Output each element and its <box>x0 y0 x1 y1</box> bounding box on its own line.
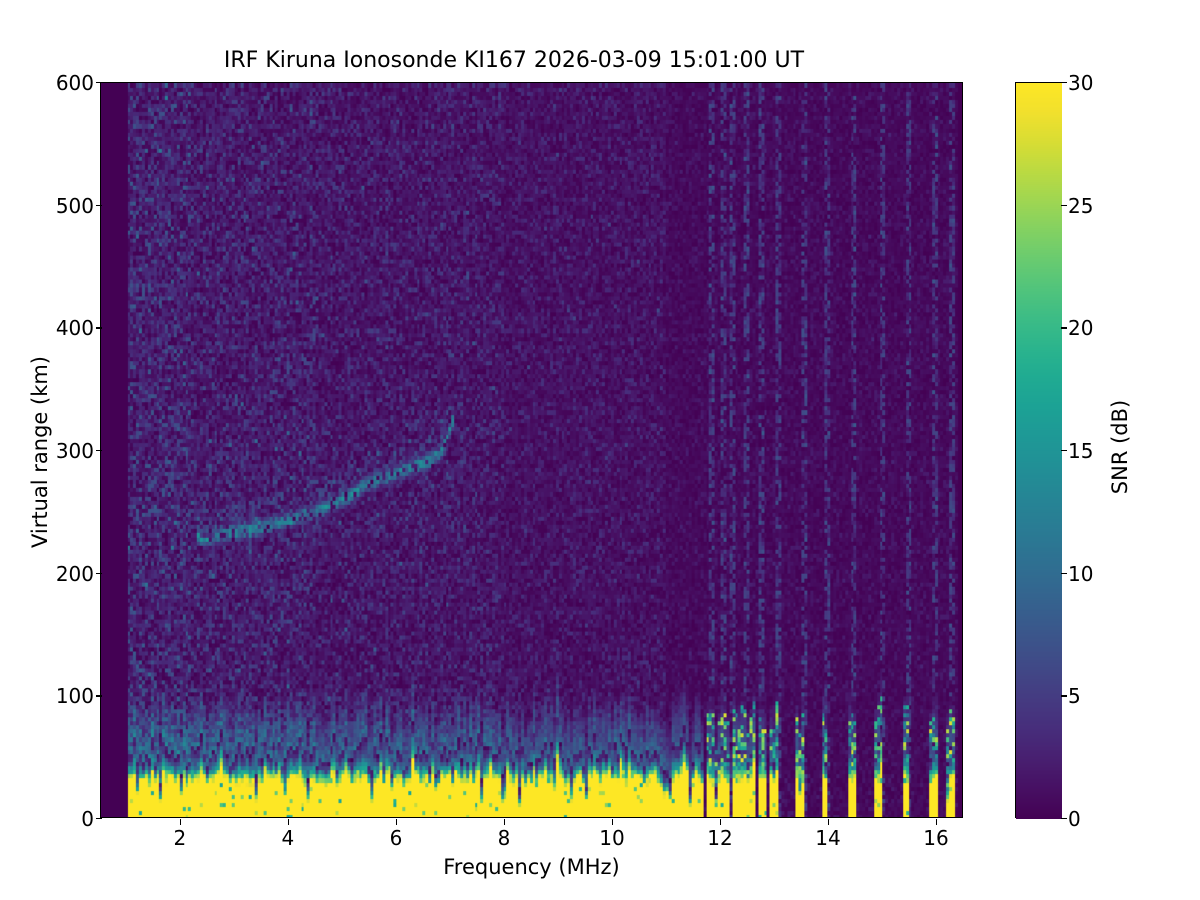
colorbar-tick-label: 5 <box>1068 684 1081 708</box>
x-tick-mark <box>180 819 181 825</box>
colorbar-label: SNR (dB) <box>1108 297 1132 597</box>
y-tick-mark <box>96 450 102 451</box>
ionogram-heatmap-canvas <box>101 83 962 817</box>
x-tick-label: 4 <box>258 826 318 850</box>
colorbar-tick-label: 10 <box>1068 562 1093 586</box>
ionogram-figure: IRF Kiruna Ionosonde KI167 2026-03-09 15… <box>0 0 1200 900</box>
y-tick-label: 0 <box>0 807 94 831</box>
x-tick-mark <box>828 819 829 825</box>
x-tick-label: 16 <box>906 826 966 850</box>
y-tick-label: 100 <box>0 684 94 708</box>
x-tick-label: 12 <box>690 826 750 850</box>
colorbar-tick-label: 15 <box>1068 439 1093 463</box>
x-tick-mark <box>396 819 397 825</box>
colorbar-gradient <box>1016 83 1062 819</box>
colorbar-tick-label: 20 <box>1068 316 1093 340</box>
colorbar-tick-mark <box>1061 82 1067 83</box>
y-tick-mark <box>96 327 102 328</box>
x-tick-mark <box>936 819 937 825</box>
colorbar-tick-label: 30 <box>1068 71 1093 95</box>
x-tick-mark <box>288 819 289 825</box>
x-tick-label: 14 <box>798 826 858 850</box>
y-tick-label: 500 <box>0 194 94 218</box>
x-tick-label: 8 <box>474 826 534 850</box>
figure-title-line1: IRF Kiruna Ionosonde KI167 2026-03-09 15… <box>0 47 1028 76</box>
y-tick-mark <box>96 205 102 206</box>
colorbar-tick-mark <box>1061 695 1067 696</box>
colorbar-tick-label: 25 <box>1068 194 1093 218</box>
colorbar-tick-label: 0 <box>1068 807 1081 831</box>
colorbar-tick-mark <box>1061 205 1067 206</box>
y-tick-mark <box>96 818 102 819</box>
colorbar-tick-mark <box>1061 573 1067 574</box>
x-tick-label: 10 <box>582 826 642 850</box>
colorbar[interactable] <box>1015 82 1061 818</box>
x-tick-mark <box>612 819 613 825</box>
x-tick-label: 6 <box>366 826 426 850</box>
x-tick-mark <box>504 819 505 825</box>
ionogram-plot-area[interactable] <box>100 82 963 818</box>
y-tick-mark <box>96 82 102 83</box>
colorbar-label-wrapper: SNR (dB) <box>1105 300 1135 600</box>
y-axis-label: Virtual range (km) <box>28 302 52 602</box>
colorbar-tick-mark <box>1061 818 1067 819</box>
x-axis-label: Frequency (MHz) <box>100 855 963 879</box>
y-tick-label: 600 <box>0 71 94 95</box>
x-tick-label: 2 <box>150 826 210 850</box>
y-tick-mark <box>96 573 102 574</box>
x-tick-mark <box>720 819 721 825</box>
colorbar-tick-mark <box>1061 327 1067 328</box>
y-tick-mark <box>96 695 102 696</box>
colorbar-tick-mark <box>1061 450 1067 451</box>
